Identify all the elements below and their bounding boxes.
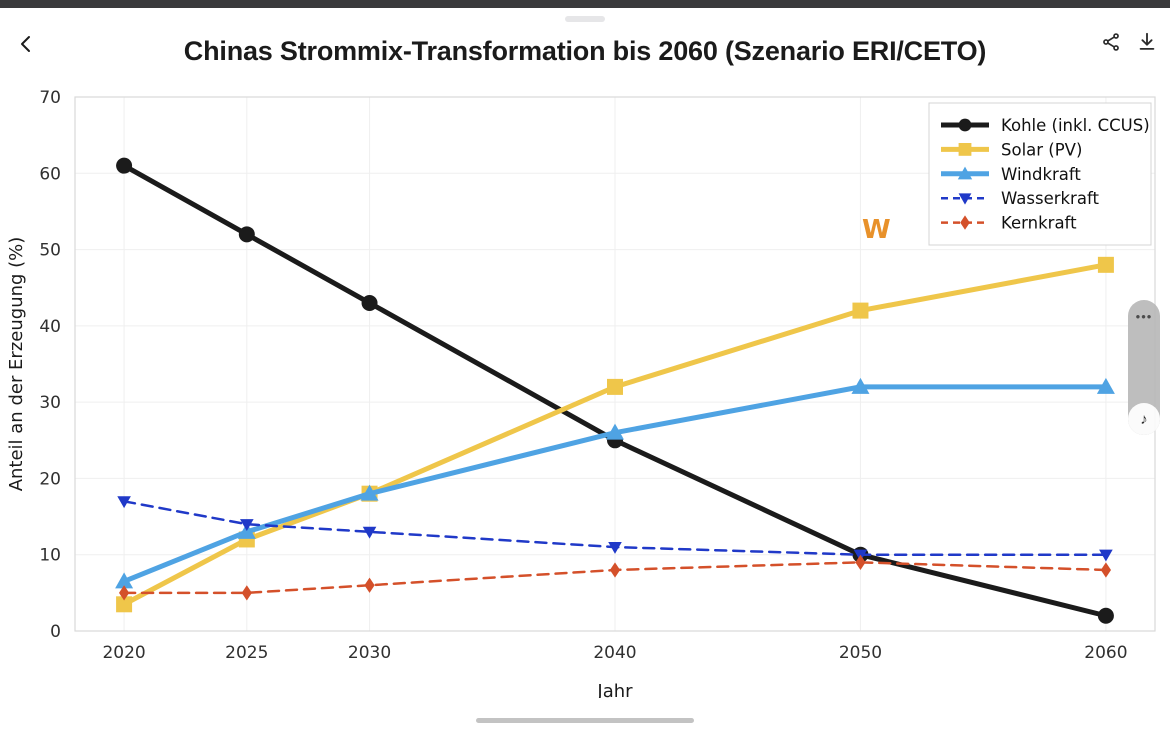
chart-legend: Kohle (inkl. CCUS)Solar (PV)WindkraftWas… <box>929 103 1151 245</box>
legend-label: Kernkraft <box>1001 214 1077 233</box>
y-tick-label: 40 <box>39 317 61 337</box>
music-note-icon[interactable]: ♪ <box>1128 403 1160 435</box>
data-point-marker <box>610 562 620 577</box>
y-tick-label: 10 <box>39 546 61 566</box>
x-tick-label: 2030 <box>348 643 391 663</box>
y-tick-label: 70 <box>39 88 61 108</box>
data-point-marker <box>364 578 374 593</box>
data-point-marker <box>1098 257 1114 273</box>
legend-label: Windkraft <box>1001 165 1081 184</box>
home-indicator <box>476 718 694 723</box>
line-chart[interactable]: 010203040506070202020252030204020502060W… <box>0 78 1170 698</box>
x-tick-label: 2020 <box>102 643 145 663</box>
data-point-marker <box>239 226 255 242</box>
legend-label: Wasserkraft <box>1001 189 1099 208</box>
y-tick-label: 60 <box>39 164 61 184</box>
download-icon[interactable] <box>1136 31 1158 53</box>
data-point-marker <box>116 158 132 174</box>
x-tick-label: 2050 <box>839 643 882 663</box>
more-options-icon[interactable]: ••• <box>1136 310 1153 323</box>
y-tick-label: 0 <box>50 622 61 642</box>
drag-handle[interactable] <box>565 16 605 22</box>
y-axis-title: Anteil an der Erzeugung (%) <box>6 237 27 492</box>
legend-label: Solar (PV) <box>1001 140 1082 159</box>
data-point-marker <box>242 585 252 600</box>
page-title: Chinas Strommix-Transformation bis 2060 … <box>0 36 1170 67</box>
y-tick-label: 30 <box>39 393 61 413</box>
watermark: W <box>862 215 891 245</box>
data-point-marker <box>607 379 623 395</box>
x-tick-label: 2025 <box>225 643 268 663</box>
y-tick-label: 20 <box>39 469 61 489</box>
x-tick-label: 2060 <box>1084 643 1127 663</box>
data-point-marker <box>852 303 868 319</box>
floating-side-widget[interactable]: ••• ♪ <box>1128 300 1160 435</box>
data-point-marker <box>1101 562 1111 577</box>
chart-page: Chinas Strommix-Transformation bis 2060 … <box>0 0 1170 732</box>
chart-container: 010203040506070202020252030204020502060W… <box>0 78 1170 698</box>
status-bar <box>0 0 1170 8</box>
data-point-marker <box>362 295 378 311</box>
legend-label: Kohle (inkl. CCUS) <box>1001 116 1150 135</box>
x-tick-label: 2040 <box>593 643 636 663</box>
data-point-marker <box>1098 608 1114 624</box>
x-axis-title: Jahr <box>596 681 633 698</box>
data-point-marker <box>959 143 972 156</box>
data-point-marker <box>959 119 972 132</box>
top-actions <box>1100 31 1158 53</box>
share-icon[interactable] <box>1100 31 1122 53</box>
y-tick-label: 50 <box>39 241 61 261</box>
